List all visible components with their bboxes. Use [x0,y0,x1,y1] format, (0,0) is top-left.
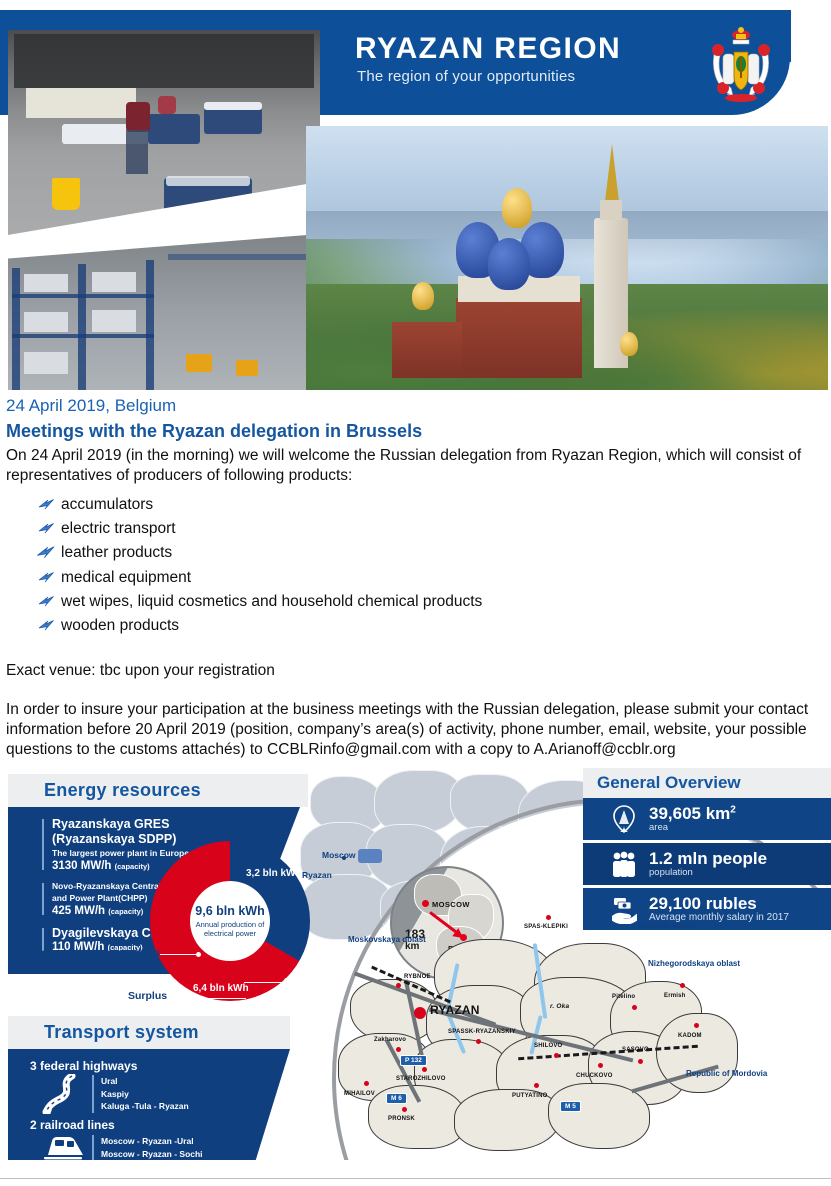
general-overview-heading: General Overview [583,768,831,798]
arrow-bullet-icon [36,545,56,560]
footer-divider [0,1178,831,1179]
neighbour-region-label: Nizhegorodskaya oblast [648,959,740,969]
railroad-name: Moscow - Ryazan - Sochi [101,1148,203,1160]
transport-system-panel: Transport system 3 federal highways Ural… [8,1016,290,1160]
arrow-bullet-icon [38,571,55,584]
plant-capacity-unit: (capacity) [115,862,150,871]
list-item: electric transport [6,517,828,541]
arrow-bullet-icon [38,498,55,511]
arrow-bullet-icon [38,595,55,608]
overview-value-sup: 2 [730,804,736,815]
city-label: Ermish [664,993,686,999]
donut-consumption-label: Annual energy consumption [18,947,160,959]
photo-collage [8,18,828,390]
neighbour-region-label: Republic of Mordovia [686,1069,767,1079]
arrow-bullet-icon [38,522,55,535]
city-dot [402,1107,407,1112]
energy-donut-chart: 9,6 bln kWh Annual production of electri… [150,841,310,1001]
article-intro: On 24 April 2019 (in the morning) we wil… [6,446,828,486]
highways-row: Ural Kaspiy Kaluga -Tula - Ryazan [42,1074,282,1114]
product-label: wet wipes, liquid cosmetics and househol… [61,593,482,610]
product-label: leather products [61,544,172,561]
product-label: accumulators [61,496,153,513]
city-label: Zakharovo [374,1037,406,1043]
city-label: RYBNOE [404,974,431,980]
city-label: SPAS-KLEPIKI [524,924,568,930]
moscow-label: Moscow [322,850,356,860]
city-label: PRONSK [388,1116,415,1122]
venue-note: Exact venue: tbc upon your registration [6,661,828,681]
product-label: electric transport [61,520,176,537]
city-dot [546,915,551,920]
city-label: Pitelino [612,994,635,1000]
overview-row-area: 39,605 km2 area [583,798,831,840]
leader-line [244,982,286,983]
city-dot [694,1023,699,1028]
city-label: KADOM [678,1033,702,1039]
product-label: wooden products [61,617,179,634]
railroads-list: Moscow - Ryazan -Ural Moscow - Ryazan - … [92,1135,203,1160]
city-dot [632,1005,637,1010]
highways-title: 3 federal highways [30,1059,282,1073]
neighbour-region-label: Moskovskaya oblast [348,935,426,945]
road-shield: P 132 [400,1055,427,1066]
overview-value: 29,100 rubles [649,895,789,913]
overview-value: 1.2 mln people [649,850,767,868]
railroad-name: Moscow - Ryazan -Ural [101,1135,203,1148]
list-item: wooden products [6,614,828,638]
donut-center: 9,6 bln kWh Annual production of electri… [190,881,270,961]
railroads-row: Moscow - Ryazan -Ural Moscow - Ryazan - … [42,1133,282,1160]
city-dot [396,1047,401,1052]
highway-name: Kaluga -Tula - Ryazan [101,1100,189,1113]
city-label: PUTYATINO [512,1093,547,1099]
registration-note: In order to insure your participation at… [6,700,828,759]
photo-textile-factory [8,30,320,235]
list-item: accumulators [6,493,828,517]
overview-label: population [649,867,767,878]
donut-surplus-value: 3,2 bln kWh [246,868,302,879]
donut-center-value: 9,6 bln kWh [195,904,264,918]
winding-road-icon [42,1074,84,1114]
city-label: SHILOVO [534,1043,562,1049]
list-item: leather products [6,541,828,565]
page-root: RYAZAN REGION The region of your opportu… [0,0,831,1186]
donut-consumption-value: 6,4 bln kWh [193,983,249,994]
energy-resources-heading: Energy resources [8,774,308,807]
city-dot [598,1063,603,1068]
city-dot [554,1053,559,1058]
people-icon [609,849,639,879]
city-dot [422,1067,427,1072]
leader-line [160,954,198,955]
highways-list: Ural Kaspiy Kaluga -Tula - Ryazan [92,1075,189,1113]
capital-dot [414,1007,426,1019]
neighbour-region-label: Vladimir oblast [638,921,695,931]
photo-ryazan-kremlin [306,126,828,390]
donut-center-label: Annual production of electrical power [190,920,270,939]
ryazan-oblast-detail-map: RYAZAN RYBNOE SPAS-KLEPIKI SPASSK-RYAZAN… [338,973,758,1158]
moscow-inset-label: MOSCOW [432,900,470,909]
road-shield: M 5 [560,1101,581,1112]
city-dot [364,1081,369,1086]
city-dot [396,983,401,988]
plant-capacity-unit: (capacity) [108,907,143,916]
city-label: MIHAILOV [344,1091,375,1097]
city-dot [534,1083,539,1088]
list-item: wet wipes, liquid cosmetics and househol… [6,590,828,614]
leader-line [186,998,246,999]
city-label: SPASSK-RYAZANSKIY [448,1029,516,1035]
capital-label: RYAZAN [430,1003,480,1017]
river-label: r. Oka [550,1003,569,1010]
donut-surplus-label: Surplus [128,990,167,1002]
ryazan-region-highlight [358,849,382,863]
product-label: medical equipment [61,569,191,586]
transport-system-body: 3 federal highways Ural Kaspiy Kaluga -T… [8,1049,290,1160]
article-headline: Meetings with the Ryazan delegation in B… [6,421,828,442]
city-label: CHUCKOVO [576,1073,613,1079]
overview-value-text: 39,605 km [649,804,730,823]
article-date-location: 24 April 2019, Belgium [6,396,828,416]
leader-dot [196,952,201,957]
arrow-bullet-icon [38,619,55,632]
railroads-title: 2 railroad lines [30,1118,282,1132]
plant-capacity-value: 425 MW/h [52,905,105,917]
road-shield: M 6 [386,1093,407,1104]
overview-row-population: 1.2 mln people population [583,843,831,885]
money-hand-icon [609,894,639,924]
overview-label: area [649,822,736,833]
transport-system-heading: Transport system [8,1016,290,1049]
train-icon [42,1133,84,1160]
infographic: Moscow Ryazan Energy resources Ryazanska… [0,768,831,1160]
product-list: accumulators electric transport leather … [6,493,828,639]
moscow-dot [422,900,429,907]
map-pin-icon [609,804,639,834]
plant-capacity-value: 3130 MW/h [52,860,111,872]
photo-warehouse [8,234,320,390]
list-item: medical equipment [6,566,828,590]
city-label: SASOVO [622,1047,649,1053]
general-overview-panel: General Overview 39,605 km2 area [583,768,831,933]
city-label: STAROZHILOVO [396,1076,446,1082]
city-dot [680,983,685,988]
city-dot [476,1039,481,1044]
city-dot [638,1059,643,1064]
plant-name-line1: Ryazanskaya GRES [52,817,290,832]
article-body: 24 April 2019, Belgium Meetings with the… [6,396,828,760]
overview-row-salary: 29,100 rubles Average monthly salary in … [583,888,831,930]
highway-name: Ural [101,1075,189,1088]
overview-value: 39,605 km2 [649,805,736,823]
highway-name: Kaspiy [101,1088,189,1101]
